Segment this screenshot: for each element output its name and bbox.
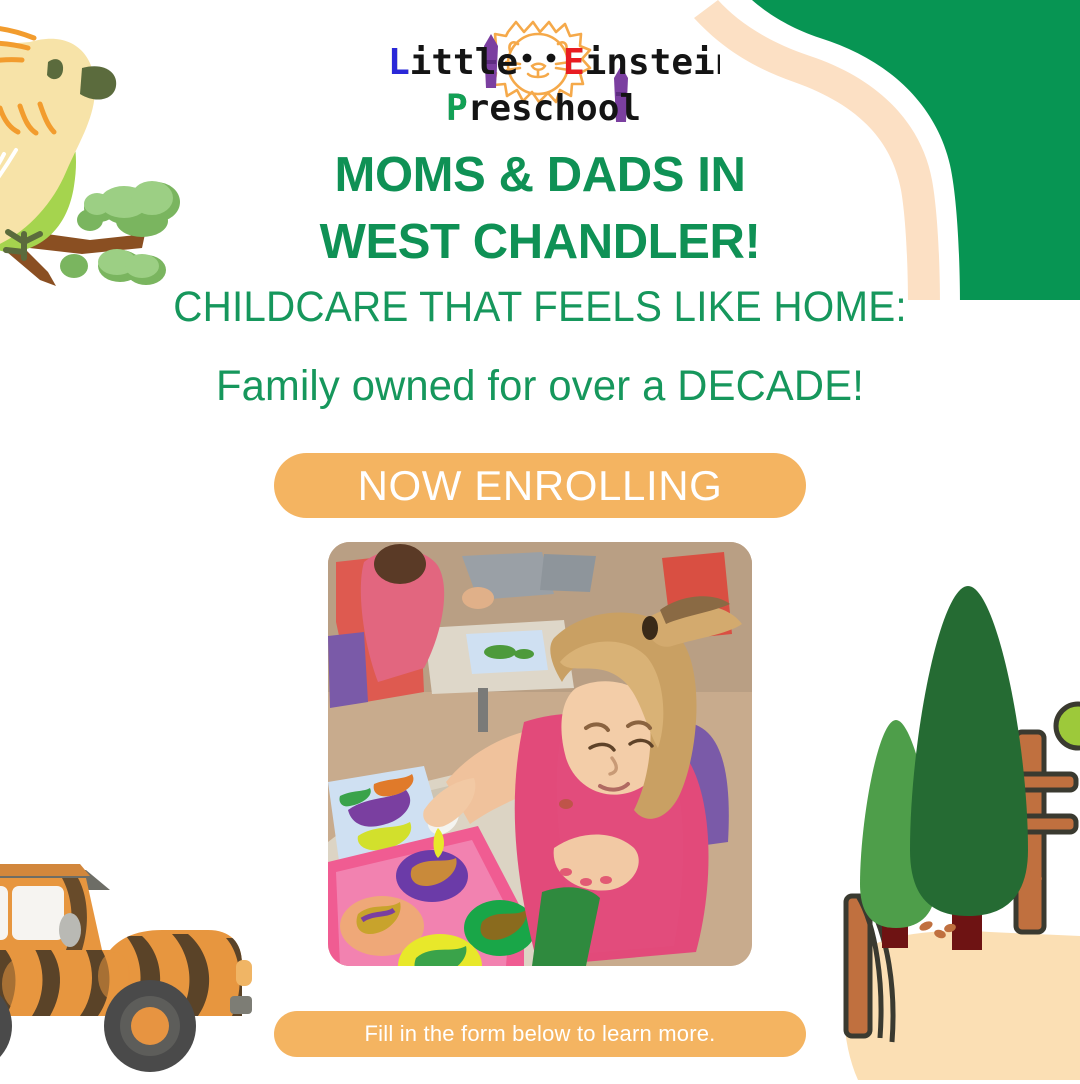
photo-illustration: [328, 542, 752, 966]
headline-line-1: MOMS & DADS IN: [0, 142, 1080, 209]
svg-text:E: E: [563, 42, 585, 83]
headline-line-2: WEST CHANDLER!: [0, 209, 1080, 276]
logo-word-preschool: Preschool: [446, 88, 641, 129]
classroom-painting-photo: [328, 542, 752, 966]
tiger-stripe-safari-jeep-illustration: [0, 844, 290, 1084]
now-enrolling-button[interactable]: NOW ENROLLING: [274, 453, 806, 518]
form-prompt-button[interactable]: Fill in the form below to learn more.: [274, 1011, 806, 1057]
pine-trees-and-fence-illustration: [840, 560, 1080, 1080]
svg-text:P: P: [446, 88, 468, 129]
svg-text:L: L: [388, 42, 410, 83]
lion-eyes: [523, 54, 556, 63]
tagline: Family owned for over a DECADE!: [16, 362, 1064, 411]
flyer-canvas: Little L Einstein E Preschool P MOMS & D…: [0, 0, 1080, 1080]
little-einstein-preschool-logo: Little L Einstein E Preschool P: [360, 18, 720, 138]
subheadline: CHILDCARE THAT FEELS LIKE HOME:: [32, 283, 1047, 332]
page-title: MOMS & DADS IN WEST CHANDLER!: [0, 142, 1080, 275]
logo-word-einstein: Einstein: [563, 42, 720, 83]
